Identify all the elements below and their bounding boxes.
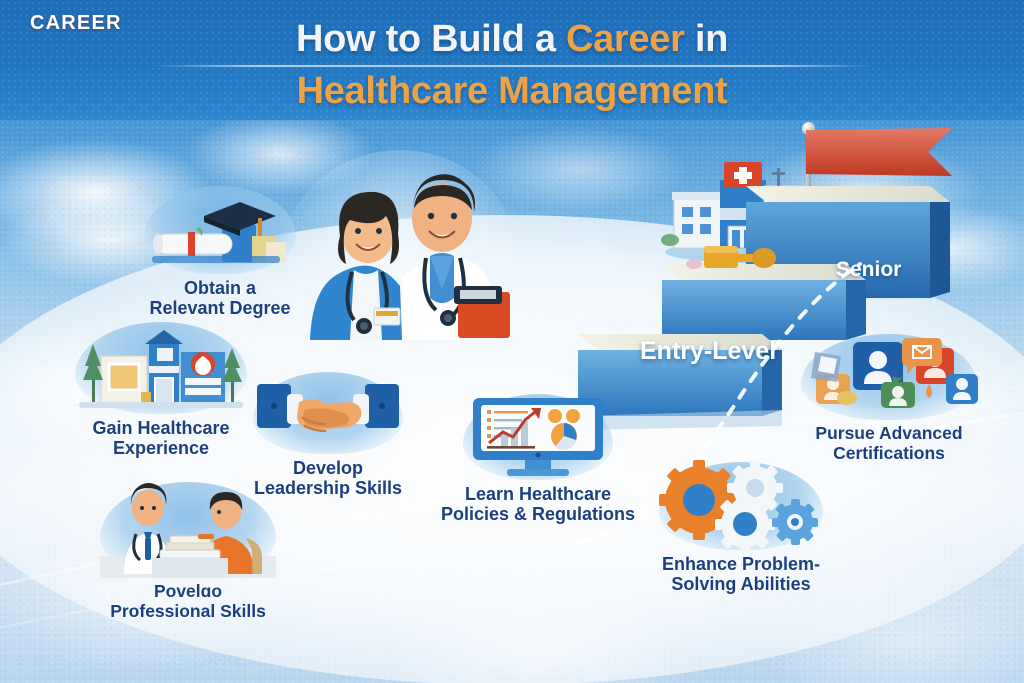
handshake-icon (253, 372, 403, 454)
gear-white-bottom (715, 494, 775, 554)
header-band: How to Build a Career in Healthcare Mana… (0, 0, 1024, 120)
male-doctor (402, 174, 510, 340)
step-pursue-advanced-certifications: Pursue Advanced Certifications (784, 334, 994, 463)
step-professional-skills: Povelɑo Professional Skills (70, 482, 306, 621)
hospital-building-icon (75, 322, 247, 414)
title-text-tail: in (685, 18, 728, 60)
step-obtain-relevant-degree: Obtain a Relevant Degree (112, 186, 328, 318)
step-caption: Pursue Advanced Certifications (784, 424, 994, 463)
step-caption: Enhance Problem- Solving Abilities (630, 554, 852, 594)
gear-blue-small (772, 499, 818, 545)
step-learn-healthcare-policies: Learn Healthcare Policies & Regulations (420, 394, 656, 524)
diploma-icon (153, 228, 232, 256)
step-develop-leadership-skills: Develop Leadership Skills (228, 372, 428, 498)
title-divider (152, 65, 874, 67)
page-title-line-1: How to Build a Career in (0, 0, 1024, 58)
graduation-cap-icon (144, 186, 296, 274)
title-text-accent: Career (566, 18, 685, 60)
step-caption: Learn Healthcare Policies & Regulations (420, 484, 656, 524)
step-caption: Obtain a Relevant Degree (112, 278, 328, 318)
person-badge-blue (946, 374, 978, 404)
step-enhance-problem-solving: Enhance Problem- Solving Abilities (630, 462, 852, 594)
gears-icon (659, 462, 823, 550)
monitor-chart-icon (463, 394, 613, 480)
step-caption: Povelɑo Professional Skills (70, 582, 306, 621)
network-people-icon (801, 334, 977, 420)
infographic-canvas: How to Build a Career in Healthcare Mana… (0, 0, 1024, 683)
consultation-icon (100, 482, 276, 578)
tree-icon (83, 344, 103, 404)
title-text-plain: How to Build a (296, 18, 566, 60)
